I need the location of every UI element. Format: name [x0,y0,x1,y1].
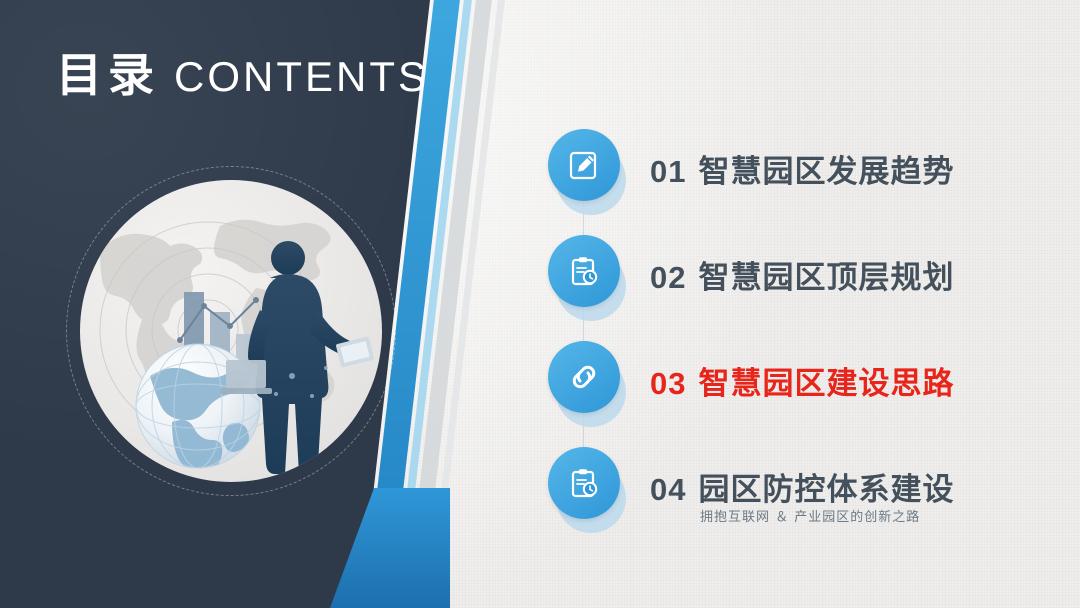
clipboard-clock-icon [567,254,601,288]
bullet-01 [548,129,626,207]
slide-canvas: 目录 CONTENTS [0,0,1080,608]
page-title: 目录 CONTENTS [56,52,429,98]
contents-list: 01 智慧园区发展趋势 02 智慧园 [548,116,1018,538]
contents-item-03-number: 03 [650,366,686,402]
contents-item-04-label: 园区防控体系建设 [698,464,954,509]
contents-item-04-text: 04 园区防控体系建设 [650,464,954,509]
footnote-text: 拥抱互联网 ＆ 产业园区的创新之路 [700,506,920,525]
bullet-circle [548,235,620,307]
bullet-03 [548,341,626,419]
clipboard-clock-icon [567,466,601,500]
bullet-circle [548,341,620,413]
contents-item-01-label: 智慧园区发展趋势 [698,146,954,191]
illustration-artwork [80,180,382,482]
page-title-cn: 目录 [56,52,160,98]
illustration-disc [80,180,382,482]
contents-item-03-label: 智慧园区建设思路 [698,358,954,403]
contents-item-02-number: 02 [650,260,686,296]
pencil-edit-icon [567,148,601,182]
link-chain-icon [567,360,601,394]
bullet-02 [548,235,626,313]
contents-item-02[interactable]: 02 智慧园区顶层规划 [548,222,1018,326]
globe-businessman-illustration [66,166,396,496]
bullet-circle [548,447,620,519]
contents-item-04-number: 04 [650,472,686,508]
page-title-en: CONTENTS [174,56,429,98]
contents-item-02-label: 智慧园区顶层规划 [698,252,954,297]
contents-item-03[interactable]: 03 智慧园区建设思路 [548,328,1018,432]
contents-item-01-text: 01 智慧园区发展趋势 [650,146,954,191]
contents-item-02-text: 02 智慧园区顶层规划 [650,252,954,297]
bullet-circle [548,129,620,201]
contents-item-01-number: 01 [650,154,686,190]
contents-item-03-text: 03 智慧园区建设思路 [650,358,954,403]
bullet-04 [548,447,626,525]
contents-item-01[interactable]: 01 智慧园区发展趋势 [548,116,1018,220]
